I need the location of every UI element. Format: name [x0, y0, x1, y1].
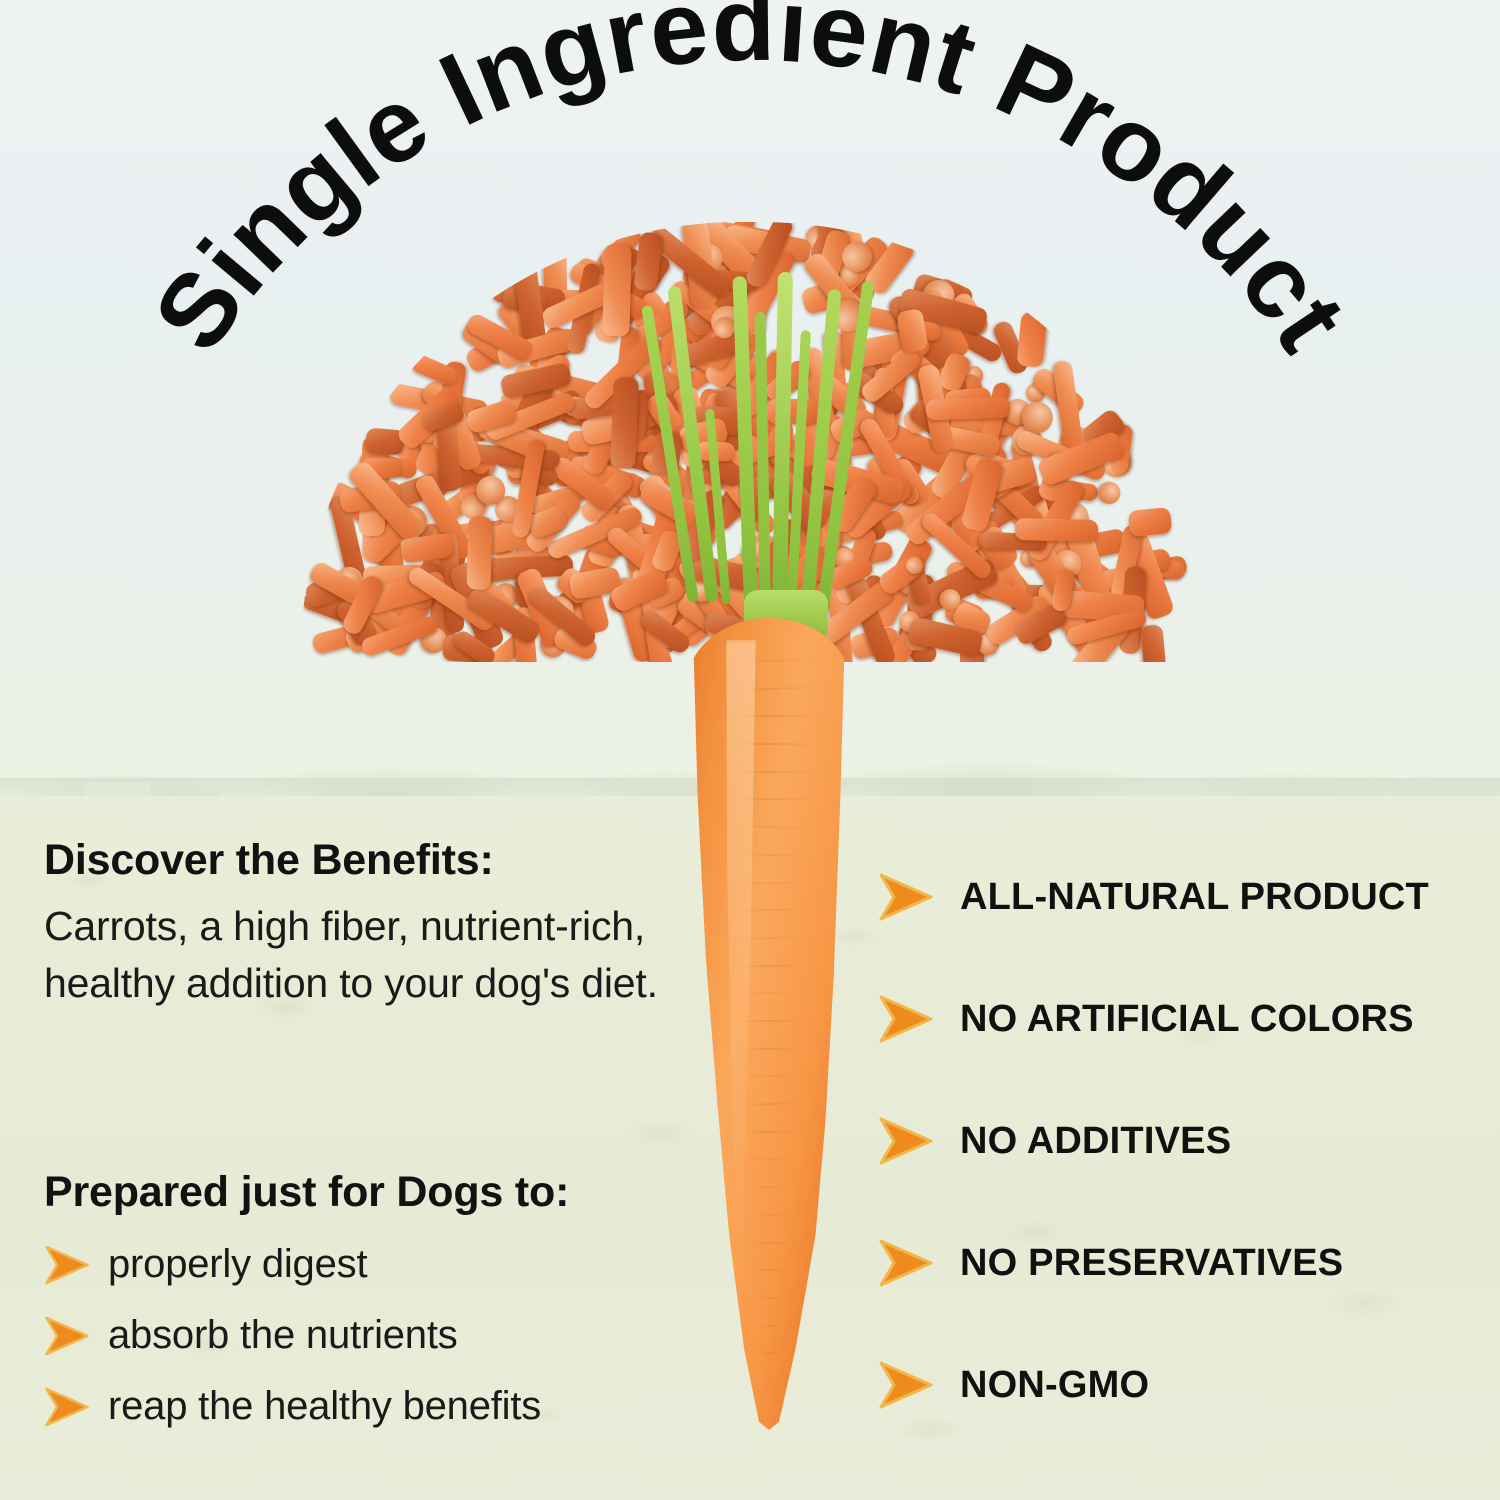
infographic-canvas: Single Ingredient Product Discover the B…: [0, 0, 1500, 1500]
claim-item: NO ARTIFICIAL COLORS: [878, 958, 1478, 1080]
prepared-block: Prepared just for Dogs to: properly dige…: [44, 1168, 704, 1429]
arrow-right-icon: [878, 1361, 934, 1409]
claim-item: ALL-NATURAL PRODUCT: [878, 836, 1478, 958]
prepared-item-label: absorb the nutrients: [108, 1313, 458, 1358]
claim-item-label: NO ADDITIVES: [960, 1120, 1231, 1163]
carrot-ridges: [690, 640, 850, 1400]
arrow-right-icon: [44, 1316, 90, 1356]
claim-item: NO ADDITIVES: [878, 1080, 1478, 1202]
benefits-body: Carrots, a high fiber, nutrient-rich, he…: [44, 898, 684, 1011]
prepared-item-label: reap the healthy benefits: [108, 1384, 541, 1429]
arrow-right-icon: [878, 1239, 934, 1287]
claim-item-label: NON-GMO: [960, 1364, 1149, 1407]
claim-item-label: NO ARTIFICIAL COLORS: [960, 998, 1414, 1041]
claims-list: ALL-NATURAL PRODUCTNO ARTIFICIAL COLORSN…: [878, 836, 1478, 1446]
arrow-right-icon: [878, 873, 934, 921]
claim-item: NO PRESERVATIVES: [878, 1202, 1478, 1324]
arrow-right-icon: [44, 1387, 90, 1427]
claim-item-label: NO PRESERVATIVES: [960, 1242, 1343, 1285]
prepared-item: absorb the nutrients: [44, 1313, 704, 1358]
claim-item-label: ALL-NATURAL PRODUCT: [960, 876, 1429, 919]
benefits-block: Discover the Benefits: Carrots, a high f…: [44, 836, 684, 1011]
prepared-item: properly digest: [44, 1242, 704, 1287]
benefits-heading: Discover the Benefits:: [44, 836, 684, 884]
prepared-heading: Prepared just for Dogs to:: [44, 1168, 704, 1216]
claim-item: NON-GMO: [878, 1324, 1478, 1446]
carrot-stem: [755, 312, 771, 612]
prepared-item-label: properly digest: [108, 1242, 367, 1287]
carrot-stems-icon: [660, 272, 880, 642]
prepared-list: properly digestabsorb the nutrientsreap …: [44, 1242, 704, 1429]
arrow-right-icon: [878, 1117, 934, 1165]
arrow-right-icon: [878, 995, 934, 1043]
arrow-right-icon: [44, 1245, 90, 1285]
prepared-item: reap the healthy benefits: [44, 1384, 704, 1429]
